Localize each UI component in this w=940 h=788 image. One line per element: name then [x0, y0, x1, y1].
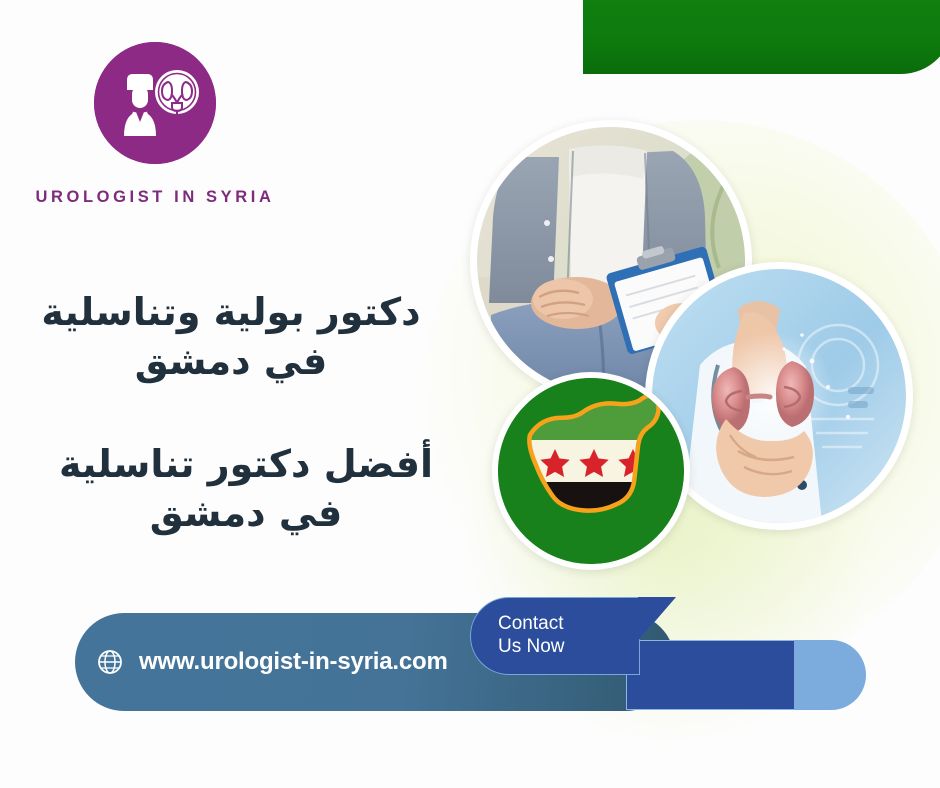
headline-line-2: في دمشق: [0, 337, 462, 386]
syria-map-flag-emblem: [492, 372, 690, 570]
website-url: www.urologist-in-syria.com: [139, 648, 448, 676]
brand-logo: UROLOGIST IN SYRIA: [30, 42, 280, 207]
contact-button-label: Contact Us Now: [498, 612, 565, 658]
headline-line-1: دكتور بولية وتناسلية: [0, 288, 462, 337]
headline: دكتور بولية وتناسلية في دمشق: [0, 288, 462, 385]
blue-accent-rounded-cap: [794, 640, 866, 710]
globe-icon: [97, 649, 123, 675]
subheadline-line-2: في دمشق: [0, 489, 492, 538]
brand-name: UROLOGIST IN SYRIA: [30, 188, 280, 207]
contact-us-button[interactable]: Contact Us Now: [470, 597, 675, 675]
subheadline-line-1: أفضل دكتور تناسلية: [0, 440, 492, 489]
green-accent-panel: [583, 0, 940, 74]
subheadline: أفضل دكتور تناسلية في دمشق: [0, 440, 492, 537]
poster-canvas: UROLOGIST IN SYRIA دكتور بولية وتناسلية …: [0, 0, 940, 788]
doctor-kidney-icon: [94, 42, 216, 164]
